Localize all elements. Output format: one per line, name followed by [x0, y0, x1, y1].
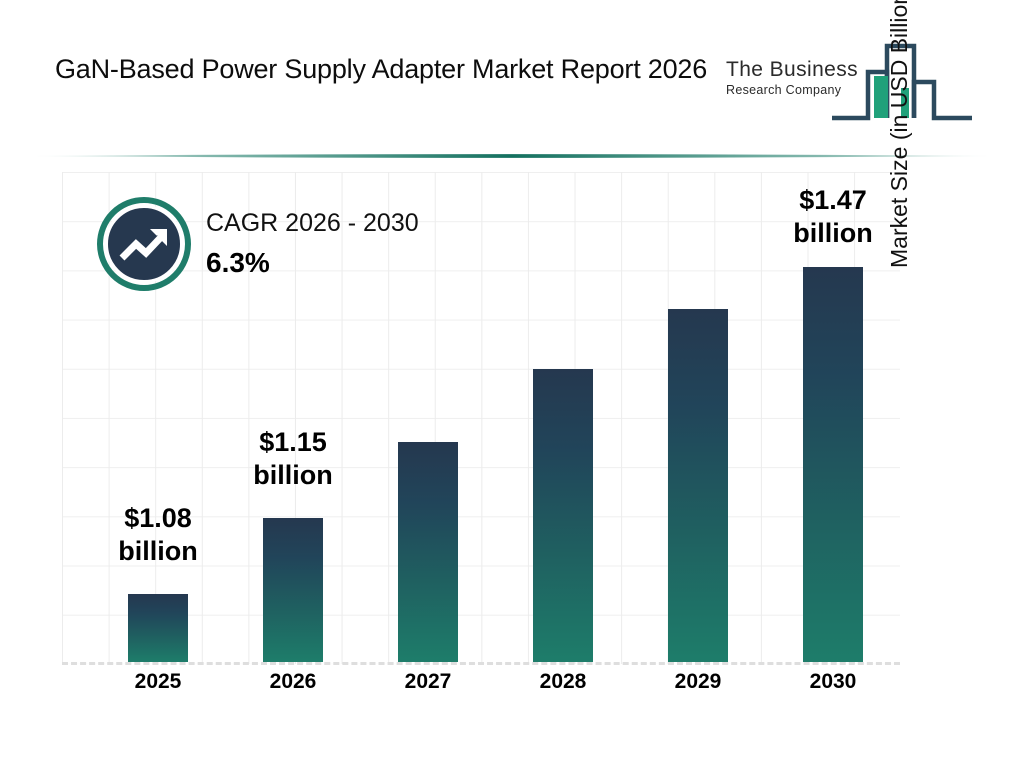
cagr-badge: CAGR 2026 - 2030 6.3%: [96, 196, 496, 308]
header-divider: [34, 152, 990, 160]
bar-2027[interactable]: [398, 442, 458, 662]
page-title: GaN-Based Power Supply Adapter Market Re…: [55, 50, 715, 88]
x-axis-tick-2025: 2025: [118, 670, 198, 694]
x-axis-tick-2028: 2028: [523, 670, 603, 694]
axis-baseline: [62, 662, 900, 665]
bar-2028[interactable]: [533, 369, 593, 662]
bar-value-amount-2026: $1.15: [233, 426, 353, 459]
header: GaN-Based Power Supply Adapter Market Re…: [0, 0, 1024, 160]
bar-2025[interactable]: [128, 594, 188, 662]
cagr-range-label: CAGR 2026 - 2030: [206, 206, 496, 240]
bar-value-amount-2025: $1.08: [98, 502, 218, 535]
cagr-text-block: CAGR 2026 - 2030 6.3%: [206, 206, 496, 282]
bar-value-label-2026: $1.15 billion: [233, 426, 353, 492]
bar-value-unit-2026: billion: [233, 459, 353, 492]
x-axis-tick-2027: 2027: [388, 670, 468, 694]
bar-2029[interactable]: [668, 309, 728, 662]
x-axis-tick-2026: 2026: [253, 670, 333, 694]
x-axis-tick-2029: 2029: [658, 670, 738, 694]
y-axis-title: Market Size (in USD Billion): [886, 0, 913, 268]
bar-value-label-2025: $1.08 billion: [98, 502, 218, 568]
x-axis-tick-2030: 2030: [793, 670, 873, 694]
company-logo: The Business Research Company: [726, 36, 974, 128]
trending-up-arrow-icon: [96, 196, 192, 292]
y-axis-title-text: Market Size (in USD Billion): [886, 0, 912, 268]
bar-value-amount-2030: $1.47: [773, 184, 893, 217]
bar-value-unit-2025: billion: [98, 535, 218, 568]
bar-2026[interactable]: [263, 518, 323, 662]
bar-2030[interactable]: [803, 267, 863, 662]
chart-page: GaN-Based Power Supply Adapter Market Re…: [0, 0, 1024, 768]
bar-value-label-2030: $1.47 billion: [773, 184, 893, 250]
bar-value-unit-2030: billion: [773, 217, 893, 250]
cagr-value-label: 6.3%: [206, 244, 496, 282]
